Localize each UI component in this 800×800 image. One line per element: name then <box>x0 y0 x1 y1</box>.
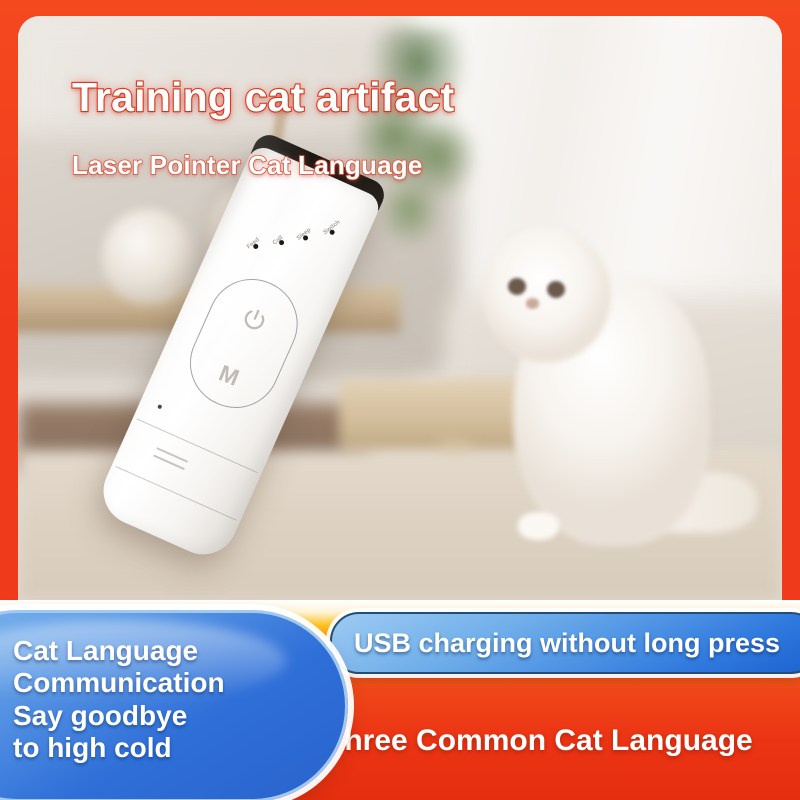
usb-charging-badge: USB charging without long press <box>330 612 800 674</box>
cat-language-badge: Cat Language Communication Say goodbye t… <box>0 610 348 800</box>
cat-photo <box>476 227 736 567</box>
cat-language-line-2: Communication <box>13 667 313 699</box>
cat-language-lines: Cat Language Communication Say goodbye t… <box>13 635 313 765</box>
mode-button-label[interactable]: M <box>215 360 244 393</box>
cat-language-line-1: Cat Language <box>13 635 313 667</box>
cat-paw <box>518 512 560 539</box>
cat-nose <box>526 298 539 308</box>
photo-red-frame: Feed Call Sleep Switch M <box>0 0 800 606</box>
product-photo: Feed Call Sleep Switch M <box>18 16 782 602</box>
vase-left <box>102 209 194 303</box>
three-common-cat-language-text: Three Common Cat Language <box>326 724 753 758</box>
cat-eye-left <box>508 278 526 295</box>
page-subtitle: Laser Pointer Cat Language <box>72 150 423 181</box>
cat-language-line-3: Say goodbye <box>13 700 313 732</box>
power-icon[interactable] <box>237 303 271 337</box>
cat-eye-right <box>547 281 565 298</box>
cat-head <box>482 227 612 363</box>
cat-language-line-4: to high cold <box>13 732 313 764</box>
device-button-panel[interactable]: M <box>176 265 312 422</box>
product-poster: Feed Call Sleep Switch M <box>0 0 800 800</box>
page-title: Training cat artifact <box>72 74 454 121</box>
usb-charging-label: USB charging without long press <box>354 628 780 659</box>
